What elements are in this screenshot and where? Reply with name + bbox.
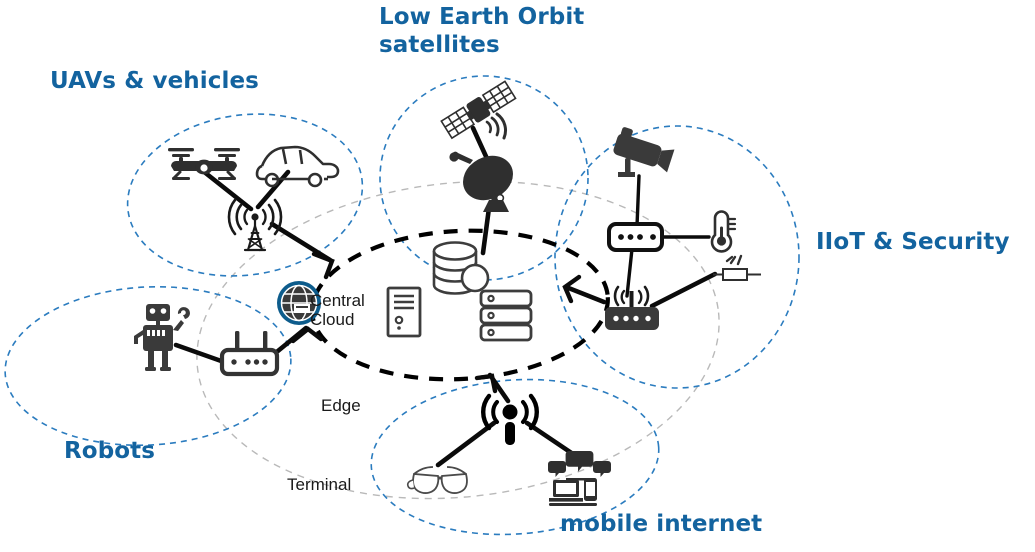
group-title-robots: Robots [64,437,155,465]
arrowhead-robot-cloud [293,329,321,341]
server-tower-icon [388,288,420,336]
link-camera-switch [637,176,639,226]
link-drone-tower [203,171,251,209]
link-switch-router [627,249,632,296]
connection-links [176,128,715,465]
tier-label-edge: Edge [321,396,361,415]
satellite-dish-icon [449,147,520,212]
satellite-icon [441,81,516,139]
link-router-sensor [652,274,715,306]
link-ap-glasses [438,423,494,465]
glasses-icon [408,467,467,493]
tier-label-central-cloud: Central Cloud [310,291,365,329]
zone-iiot [555,126,799,388]
security-camera-icon [612,126,676,177]
thermometer-icon [712,212,735,252]
database-icon [434,243,488,294]
robot-icon [134,304,190,371]
zone-uav [117,99,373,290]
network-switch-icon [609,224,662,250]
router-antenna-icon [222,331,277,374]
link-robot-router [176,345,224,362]
link-dish-cloud [483,208,489,253]
drone-icon [168,148,240,180]
network-architecture-diagram: UAVs & vehicles Low Earth Orbit satellit… [0,0,1035,552]
car-icon [257,147,338,186]
wireless-router-icon [605,287,659,330]
server-rack-icon [481,291,531,340]
tier-label-terminal: Terminal [287,475,351,494]
group-title-mobile: mobile internet [560,510,762,538]
group-title-leo: Low Earth Orbit satellites [379,3,584,59]
wireless-sensor-icon [713,256,761,280]
wifi-access-point-icon [483,396,537,445]
link-car-tower [258,172,288,207]
group-title-iiot: IIoT & Security [816,228,1010,256]
group-title-uav: UAVs & vehicles [50,67,259,95]
